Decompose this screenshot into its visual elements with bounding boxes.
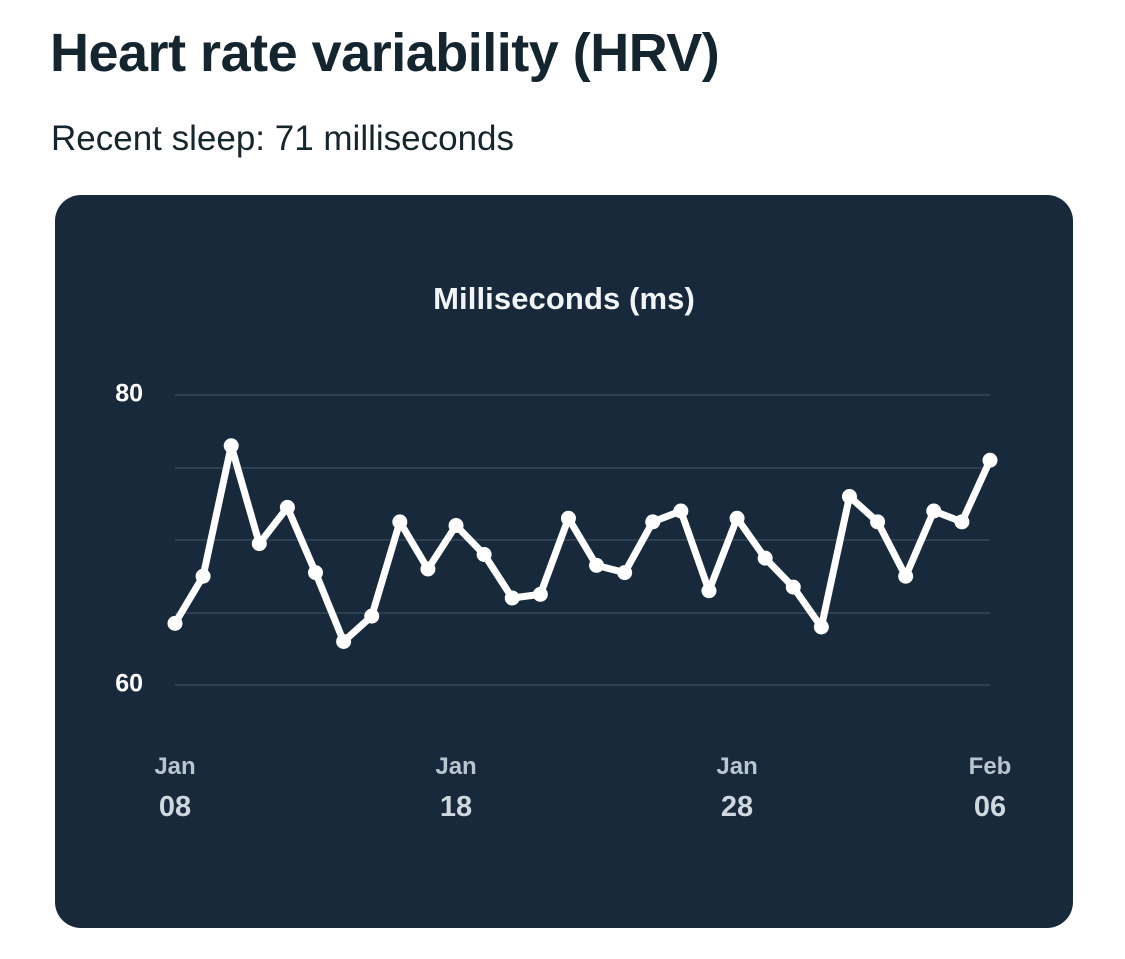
y-axis-label-60: 60 [115, 670, 143, 699]
data-point[interactable] [533, 587, 548, 602]
hrv-line-series [175, 395, 990, 685]
x-tick-day: 06 [969, 793, 1012, 822]
data-point[interactable] [308, 565, 323, 580]
data-point[interactable] [983, 453, 998, 468]
data-point[interactable] [252, 536, 267, 551]
data-point[interactable] [449, 518, 464, 533]
data-point[interactable] [730, 511, 745, 526]
x-axis-tick-jan-28: Jan28 [716, 755, 757, 822]
hrv-page: Heart rate variability (HRV) Recent slee… [0, 0, 1125, 959]
series-line [175, 446, 990, 642]
x-tick-day: 18 [435, 793, 476, 822]
data-point[interactable] [926, 504, 941, 519]
data-point[interactable] [898, 569, 913, 584]
data-point[interactable] [814, 620, 829, 635]
y-axis-label-80: 80 [115, 380, 143, 409]
data-point[interactable] [954, 514, 969, 529]
x-axis-tick-labels: Jan08Jan18Jan28Feb06 [175, 755, 990, 845]
data-point[interactable] [392, 514, 407, 529]
x-tick-month: Jan [154, 755, 195, 779]
data-point[interactable] [561, 511, 576, 526]
data-point[interactable] [364, 609, 379, 624]
data-point[interactable] [758, 551, 773, 566]
page-subtitle: Recent sleep: 71 milliseconds [51, 119, 514, 159]
x-tick-day: 08 [154, 793, 195, 822]
data-point[interactable] [336, 634, 351, 649]
data-point[interactable] [280, 500, 295, 515]
data-point[interactable] [589, 558, 604, 573]
chart-title: Milliseconds (ms) [55, 281, 1073, 317]
x-tick-month: Jan [716, 755, 757, 779]
data-point[interactable] [420, 562, 435, 577]
data-point[interactable] [477, 547, 492, 562]
x-axis-tick-jan-08: Jan08 [154, 755, 195, 822]
x-axis-tick-feb-06: Feb06 [969, 755, 1012, 822]
x-axis-tick-jan-18: Jan18 [435, 755, 476, 822]
data-point[interactable] [701, 583, 716, 598]
x-tick-month: Jan [435, 755, 476, 779]
hrv-chart-card: Milliseconds (ms) 806040 Jan08Jan18Jan28… [55, 195, 1073, 928]
data-point[interactable] [842, 489, 857, 504]
data-point[interactable] [786, 580, 801, 595]
data-point[interactable] [196, 569, 211, 584]
data-point[interactable] [505, 591, 520, 606]
data-point[interactable] [673, 504, 688, 519]
chart-plot-area: 806040 [175, 395, 990, 685]
page-title: Heart rate variability (HRV) [50, 22, 719, 84]
data-point[interactable] [168, 616, 183, 631]
x-tick-day: 28 [716, 793, 757, 822]
data-point[interactable] [224, 438, 239, 453]
data-point[interactable] [645, 514, 660, 529]
data-point[interactable] [617, 565, 632, 580]
data-point[interactable] [870, 514, 885, 529]
x-tick-month: Feb [969, 755, 1012, 779]
